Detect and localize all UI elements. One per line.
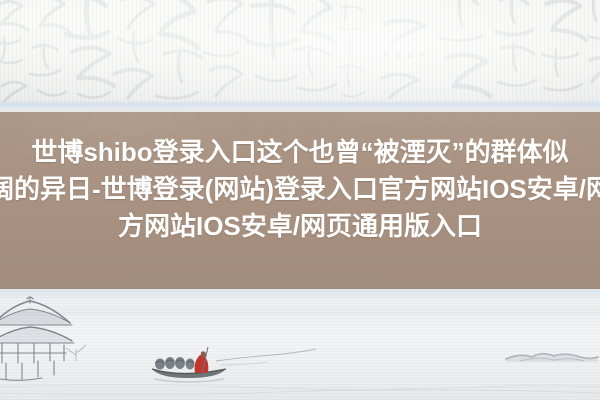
caption-text-block: 世博shibo登录入口这个也曾“被湮灭”的群体似 阔的异日-世博登录(网站)登录…	[0, 134, 600, 245]
lake-painting	[0, 289, 600, 400]
caption-line-3: 方网站IOS安卓/网页通用版入口	[0, 208, 600, 245]
caption-line-2: 阔的异日-世博登录(网站)登录入口官方网站IOS安卓/网	[0, 171, 600, 208]
calligraphy-glyphs	[0, 0, 600, 112]
calligraphy-background	[0, 0, 600, 112]
caption-line-1: 世博shibo登录入口这个也曾“被湮灭”的群体似	[0, 134, 600, 171]
caption-band: 世博shibo登录入口这个也曾“被湮灭”的群体似 阔的异日-世博登录(网站)登录…	[0, 112, 600, 289]
lake-artwork	[0, 289, 600, 400]
paper-seam	[0, 100, 600, 112]
image-canvas: 世博shibo登录入口这个也曾“被湮灭”的群体似 阔的异日-世博登录(网站)登录…	[0, 0, 600, 400]
